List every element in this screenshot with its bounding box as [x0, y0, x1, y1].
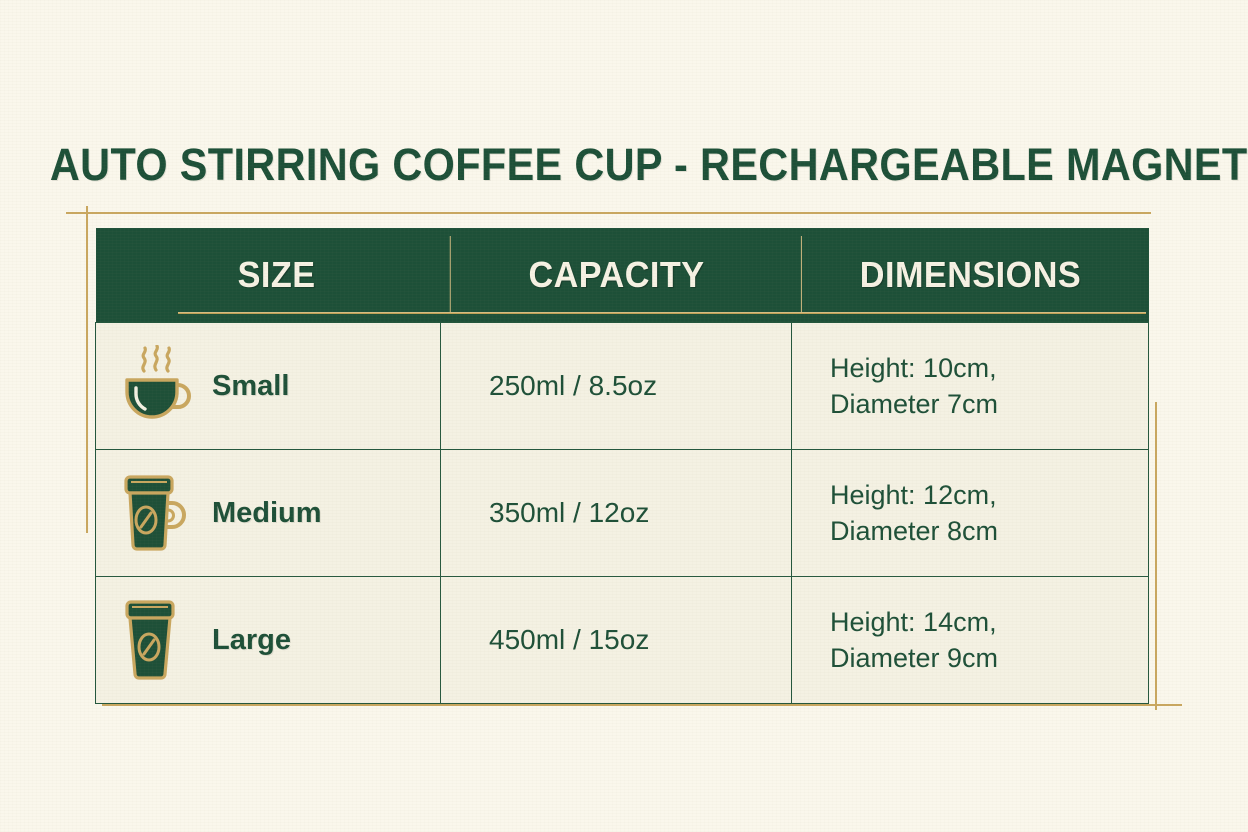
teacup-with-steam-icon [116, 344, 198, 428]
dimensions-height-line: Height: 12cm, [830, 477, 1148, 513]
cell-dimensions-small: Height: 10cm, Diameter 7cm [792, 323, 1149, 450]
cell-size-small: Small [96, 323, 441, 450]
cell-dimensions-medium: Height: 12cm, Diameter 8cm [792, 450, 1149, 577]
dimensions-diameter-line: Diameter 8cm [830, 513, 1148, 549]
top-left-vertical-rule [86, 206, 88, 533]
dimensions-diameter-line: Diameter 9cm [830, 640, 1148, 676]
size-comparison-table: SIZE CAPACITY DIMENSIONS [95, 228, 1149, 704]
bottom-right-vertical-rule [1155, 402, 1157, 710]
cell-size-medium: Medium [96, 450, 441, 577]
cell-capacity-large: 450ml / 15oz [441, 577, 792, 704]
size-label: Small [212, 368, 289, 404]
column-header-size[interactable]: SIZE [104, 228, 432, 323]
dimensions-diameter-line: Diameter 7cm [830, 386, 1148, 422]
table-row: Medium 350ml / 12oz Height: 12cm, Diamet… [96, 450, 1149, 577]
table-row: Small 250ml / 8.5oz Height: 10cm, Diamet… [96, 323, 1149, 450]
dimensions-height-line: Height: 14cm, [830, 604, 1148, 640]
dimensions-height-line: Height: 10cm, [830, 350, 1148, 386]
table-header-row: SIZE CAPACITY DIMENSIONS [96, 228, 1149, 323]
travel-mug-with-handle-icon [116, 471, 198, 555]
cell-size-large: Large [96, 577, 441, 704]
cell-dimensions-large: Height: 14cm, Diameter 9cm [792, 577, 1149, 704]
page-title: AUTO STIRRING COFFEE CUP - RECHARGEABLE … [50, 138, 1198, 192]
cell-capacity-small: 250ml / 8.5oz [441, 323, 792, 450]
top-left-horizontal-rule [66, 212, 1151, 214]
cell-capacity-medium: 350ml / 12oz [441, 450, 792, 577]
size-comparison-table-wrapper: SIZE CAPACITY DIMENSIONS [95, 228, 1148, 704]
table-header: SIZE CAPACITY DIMENSIONS [96, 228, 1149, 323]
bottom-right-horizontal-rule [102, 704, 1182, 706]
column-header-capacity[interactable]: CAPACITY [449, 228, 782, 323]
size-label: Medium [212, 495, 322, 531]
table-row: Large 450ml / 15oz Height: 14cm, Diamete… [96, 577, 1149, 704]
column-header-dimensions[interactable]: DIMENSIONS [800, 228, 1139, 323]
header-gold-underline [178, 312, 1146, 314]
table-body: Small 250ml / 8.5oz Height: 10cm, Diamet… [96, 323, 1149, 704]
tumbler-cup-icon [116, 598, 198, 682]
size-label: Large [212, 622, 291, 658]
